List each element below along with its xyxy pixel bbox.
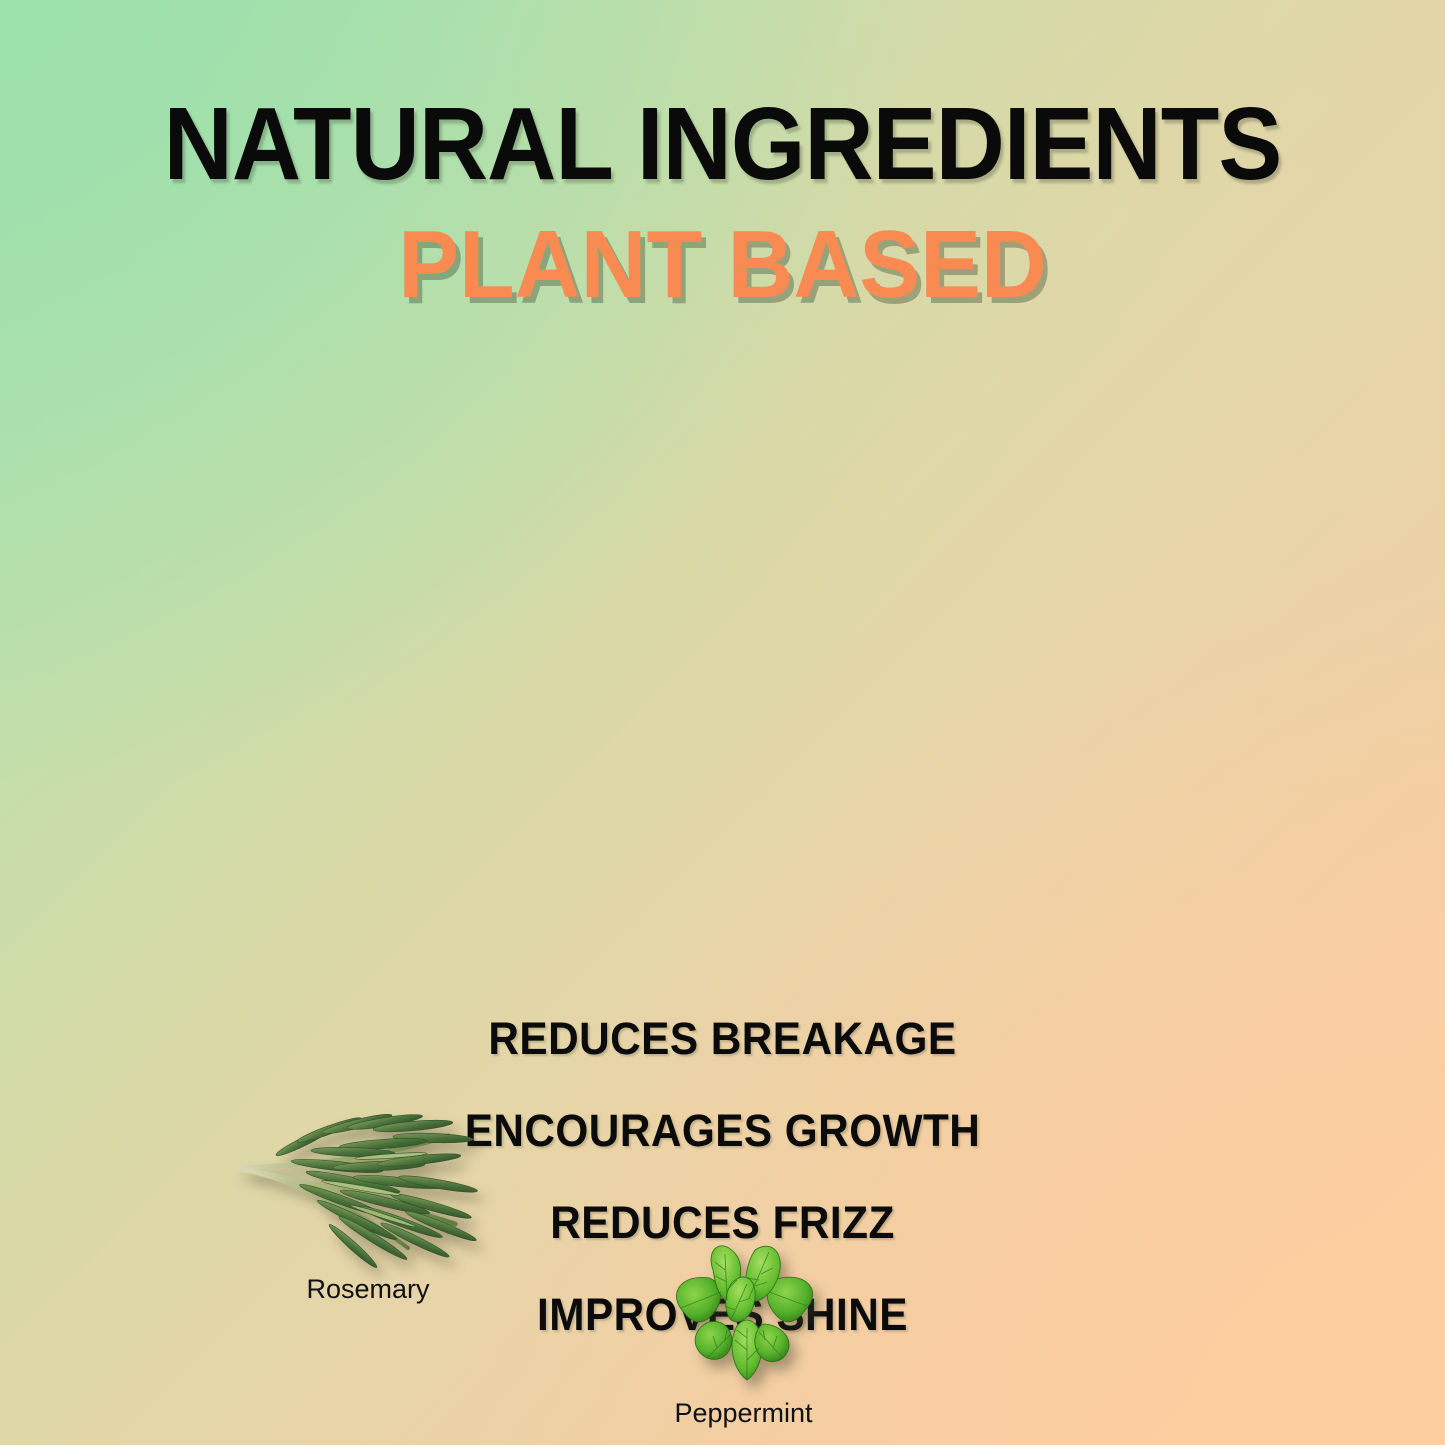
ingredient-peppermint: Peppermint <box>651 1240 836 1429</box>
peppermint-leaves-image <box>651 1240 836 1390</box>
benefit-item: REDUCES BREAKAGE <box>43 1013 1401 1065</box>
ingredient-label-rosemary: Rosemary <box>233 1274 503 1305</box>
ingredient-poster: NATURAL INGREDIENTS PLANT BASED REDUCES … <box>0 0 1445 1445</box>
page-subtitle: PLANT BASED <box>36 217 1409 313</box>
rosemary-sprig-image <box>233 1096 503 1266</box>
ingredient-label-peppermint: Peppermint <box>651 1398 836 1429</box>
peppermint-art <box>651 1240 836 1390</box>
page-title: NATURAL INGREDIENTS <box>51 92 1395 195</box>
ingredient-rosemary: Rosemary <box>233 1096 503 1305</box>
rosemary-art <box>233 1096 503 1266</box>
poster-headings: NATURAL INGREDIENTS PLANT BASED <box>0 92 1445 313</box>
